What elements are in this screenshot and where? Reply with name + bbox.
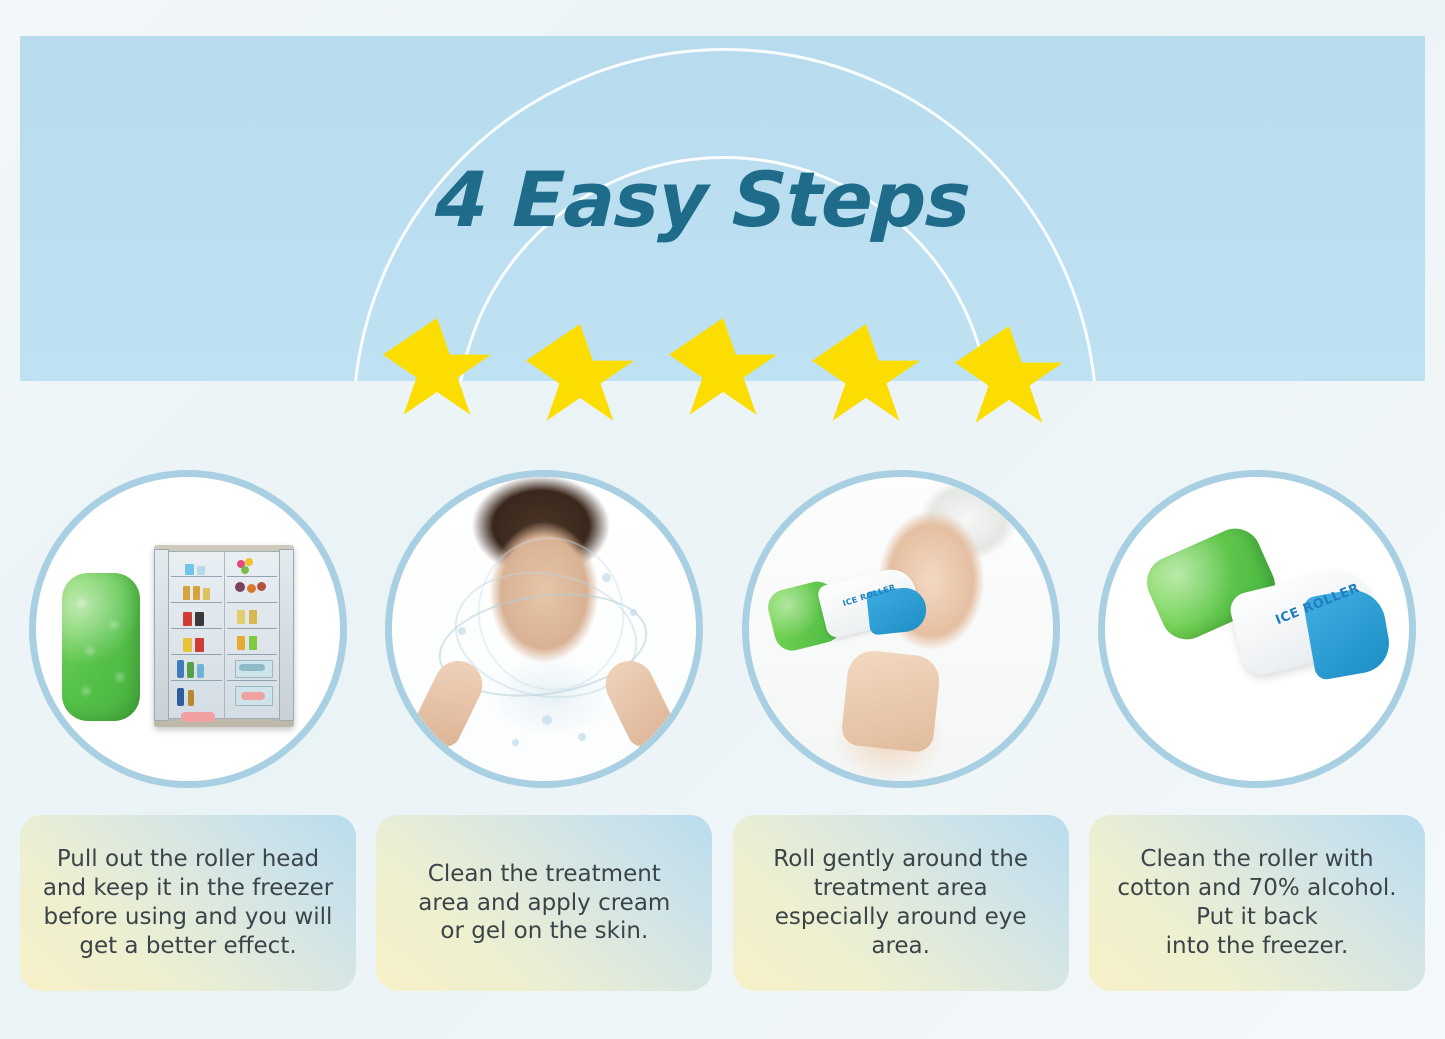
step-1-image-circle (29, 470, 347, 788)
step-1-caption-text: Pull out the roller head and keep it in … (43, 845, 333, 961)
star-icon (383, 318, 491, 422)
step-2: Clean the treatment area and apply cream… (376, 470, 712, 991)
star-icon (526, 324, 634, 428)
star-icon (669, 318, 777, 422)
step-2-image-circle (385, 470, 703, 788)
step-3-caption-text: Roll gently around the treatment area es… (773, 845, 1028, 961)
step-4: ICE ROLLER Clean the roller with cotton … (1089, 470, 1425, 991)
step-4-caption-text: Clean the roller with cotton and 70% alc… (1117, 845, 1396, 961)
step-1-caption: Pull out the roller head and keep it in … (20, 815, 356, 991)
fridge-door-left (154, 549, 169, 721)
ice-roller-product-icon: ICE ROLLER (1143, 535, 1393, 705)
step-4-caption: Clean the roller with cotton and 70% alc… (1089, 815, 1425, 991)
star-icon (955, 326, 1063, 430)
woman-using-ice-roller-image: ICE ROLLER (749, 477, 1053, 781)
fridge-door-right (279, 549, 294, 721)
steps-row: Pull out the roller head and keep it in … (20, 470, 1425, 991)
step-4-image-circle: ICE ROLLER (1098, 470, 1416, 788)
step-1: Pull out the roller head and keep it in … (20, 470, 356, 991)
step-3-caption: Roll gently around the treatment area es… (733, 815, 1069, 991)
refrigerator-icon (154, 545, 294, 727)
page-title: 4 Easy Steps (0, 155, 1407, 244)
step-3-image-circle: ICE ROLLER (742, 470, 1060, 788)
roller-head-and-freezer-image (36, 477, 340, 781)
step-2-caption-text: Clean the treatment area and apply cream… (418, 860, 670, 947)
step-3: ICE ROLLER Roll gently around the treatm… (733, 470, 1069, 991)
step-2-caption: Clean the treatment area and apply cream… (376, 815, 712, 991)
product-infographic-poster: 4 Easy Steps (0, 0, 1445, 1039)
woman-washing-face-image (392, 477, 696, 781)
star-icon (812, 324, 920, 428)
rating-stars (383, 318, 1063, 428)
ice-roller-product-image: ICE ROLLER (1105, 477, 1409, 781)
roller-head-icon (62, 573, 140, 721)
